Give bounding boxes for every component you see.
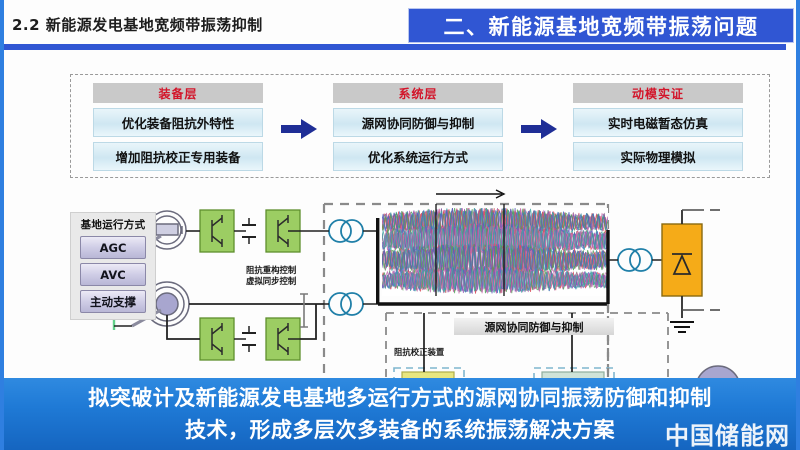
right-arrow-icon	[279, 117, 319, 141]
conclusion-line-1: 拟突破计及新能源发电基地多运行方式的源网协同振荡防御和抑制	[4, 382, 796, 414]
chapter-title-box: 二、新能源基地宽频带振荡问题	[408, 8, 794, 43]
flow-group-heading: 动模实证	[573, 83, 743, 103]
header-divider	[4, 44, 786, 50]
run-mode-button-active-support[interactable]: 主动支撑	[80, 290, 146, 313]
run-mode-button-agc[interactable]: AGC	[80, 236, 146, 259]
oscillation-waveform	[382, 207, 608, 296]
label-virtual-synchronous-control: 虚拟同步控制	[246, 277, 296, 287]
run-mode-button-avc[interactable]: AVC	[80, 263, 146, 286]
conclusion-banner: 拟突破计及新能源发电基地多运行方式的源网协同振荡防御和抑制 技术，形成多层次多装…	[4, 378, 796, 450]
strategy-flow-panel: 装备层 优化装备阻抗外特性 增加阻抗校正专用装备 系统层 源网协同防御与抑制 优…	[70, 74, 770, 178]
flow-item: 源网协同防御与抑制	[333, 108, 503, 137]
converter-block	[167, 304, 324, 360]
run-mode-panel: 基地运行方式 AGC AVC 主动支撑	[70, 212, 156, 320]
flow-item: 优化装备阻抗外特性	[93, 108, 263, 137]
transformer-icon	[329, 293, 363, 315]
transformer-icon	[329, 220, 363, 242]
right-arrow-icon	[519, 117, 559, 141]
subregion-heading: 源网协同防御与抑制	[454, 318, 614, 335]
watermark: 中国储能网	[665, 416, 790, 450]
slide-canvas: 2.2 新能源发电基地宽频带振荡抑制 二、新能源基地宽频带振荡问题 装备层 优化…	[0, 0, 800, 450]
chapter-title: 二、新能源基地宽频带振荡问题	[444, 11, 759, 41]
run-mode-title: 基地运行方式	[71, 217, 155, 232]
busbar	[376, 218, 379, 304]
flow-group-system-layer: 系统层 源网协同防御与抑制 优化系统运行方式	[333, 83, 503, 171]
label-impedance-correction-device: 阻抗校正装置	[394, 348, 444, 358]
transformer-icon	[618, 249, 652, 271]
flow-item: 实时电磁暂态仿真	[573, 108, 743, 137]
flow-group-heading: 装备层	[93, 83, 263, 103]
line-stub	[300, 294, 308, 327]
flow-item: 实际物理模拟	[573, 142, 743, 171]
label-impedance-reconstruction-control: 阻抗重构控制	[246, 266, 296, 276]
section-label: 2.2 新能源发电基地宽频带振荡抑制	[12, 14, 263, 35]
flow-group-heading: 系统层	[333, 83, 503, 103]
converter-block	[186, 210, 324, 252]
hvdc-valve-block	[662, 210, 702, 318]
flow-item: 优化系统运行方式	[333, 142, 503, 171]
flow-group-dynamic-validation: 动模实证 实时电磁暂态仿真 实际物理模拟	[573, 83, 743, 171]
flow-group-equipment-layer: 装备层 优化装备阻抗外特性 增加阻抗校正专用装备	[93, 83, 263, 171]
ground-symbol	[670, 322, 694, 332]
flow-item: 增加阻抗校正专用装备	[93, 142, 263, 171]
